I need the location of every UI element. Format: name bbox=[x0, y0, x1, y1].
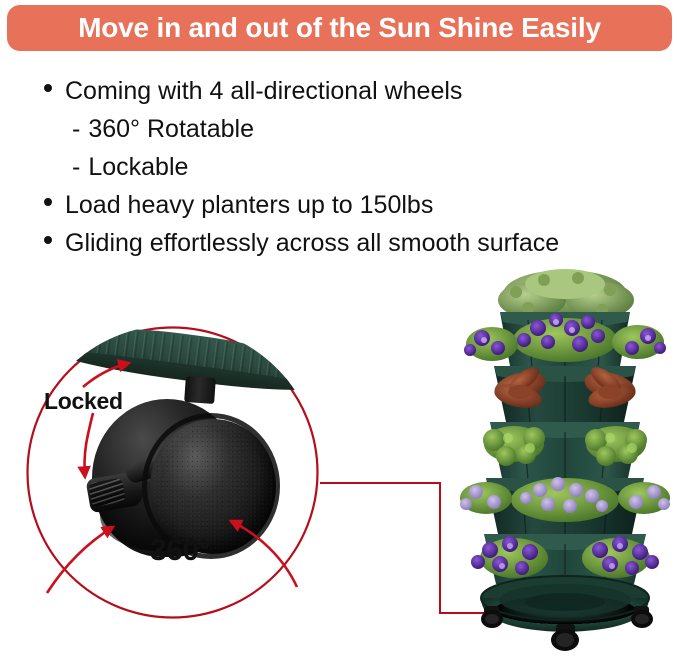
dash-marker-icon: - bbox=[72, 110, 80, 148]
bullet-dot-icon bbox=[44, 236, 52, 244]
page-title: Move in and out of the Sun Shine Easily bbox=[78, 14, 601, 42]
locked-label: Locked bbox=[44, 388, 123, 415]
locked-up-arrow-icon bbox=[83, 363, 129, 387]
rotation-arc-right-icon bbox=[231, 521, 297, 587]
rotation-arc-left-icon bbox=[47, 527, 113, 593]
rotation-degree-label: 360° bbox=[150, 534, 210, 568]
tier-4-flowers bbox=[460, 477, 670, 522]
callout-arrows-group bbox=[25, 325, 320, 620]
list-item-label: 360° Rotatable bbox=[88, 110, 254, 148]
feature-list: Coming with 4 all-directional wheels - 3… bbox=[44, 72, 676, 262]
list-item: - Lockable bbox=[44, 148, 676, 186]
planter-base-tray bbox=[481, 576, 649, 632]
list-item: - 360° Rotatable bbox=[44, 110, 676, 148]
tier-top-foliage bbox=[498, 269, 634, 318]
list-item-label: Coming with 4 all-directional wheels bbox=[65, 72, 462, 110]
caster-right bbox=[631, 606, 653, 628]
header-banner: Move in and out of the Sun Shine Easily bbox=[7, 5, 672, 51]
list-item-label: Lockable bbox=[88, 148, 188, 186]
list-item: Gliding effortlessly across all smooth s… bbox=[44, 224, 676, 262]
tier-1-flowers bbox=[464, 313, 666, 362]
list-item: Coming with 4 all-directional wheels bbox=[44, 72, 676, 110]
planter-tower-graphic bbox=[452, 262, 679, 656]
caster-callout-circle bbox=[25, 325, 320, 620]
bullet-dot-icon bbox=[44, 198, 52, 206]
list-item-label: Gliding effortlessly across all smooth s… bbox=[65, 224, 559, 262]
bullet-dot-icon bbox=[44, 84, 52, 92]
locked-down-arrow-icon bbox=[84, 413, 93, 477]
list-item-label: Load heavy planters up to 150lbs bbox=[65, 186, 433, 224]
dash-marker-icon: - bbox=[72, 148, 80, 186]
stackable-planter-tower bbox=[452, 262, 679, 656]
list-item: Load heavy planters up to 150lbs bbox=[44, 186, 676, 224]
